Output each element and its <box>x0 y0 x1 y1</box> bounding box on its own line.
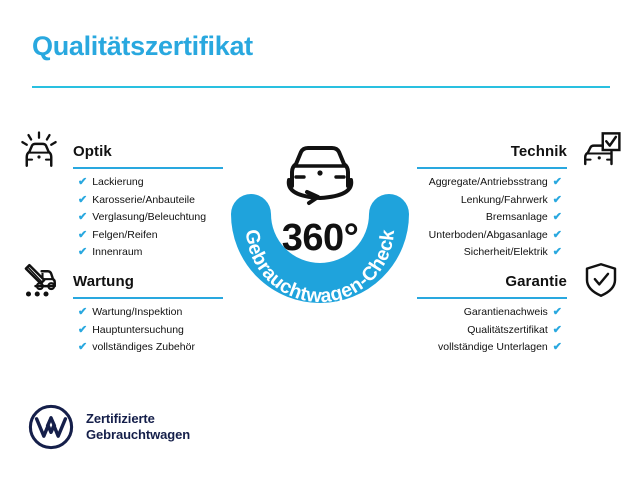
section-wartung-divider <box>73 297 223 299</box>
section-optik-list: ✔ Lackierung ✔ Karosserie/Anbauteile ✔ V… <box>18 174 223 262</box>
sparkling-car-icon <box>18 130 60 170</box>
header: Qualitätszertifikat <box>32 32 608 62</box>
list-item-label: Lenkung/Fahrwerk <box>461 192 548 210</box>
section-wartung-header: Wartung <box>18 258 223 304</box>
list-item: Aggregate/Antriebsstrang ✔ <box>417 174 622 192</box>
vw-logo-icon <box>28 404 74 450</box>
check-icon: ✔ <box>78 342 87 353</box>
list-item-label: Bremsanlage <box>486 209 548 227</box>
check-icon: ✔ <box>78 247 87 258</box>
360-check-badge: Gebrauchtwagen-Check 360° <box>218 118 422 322</box>
section-garantie-title: Garantie <box>505 273 567 290</box>
section-technik-list: Aggregate/Antriebsstrang ✔ Lenkung/Fahrw… <box>417 174 622 262</box>
section-optik-header: Optik <box>18 128 223 174</box>
check-icon: ✔ <box>553 177 562 188</box>
check-icon: ✔ <box>78 177 87 188</box>
section-technik-divider <box>417 167 567 169</box>
check-icon: ✔ <box>553 307 562 318</box>
list-item-label: vollständiges Zubehör <box>92 339 195 357</box>
list-item: ✔ Felgen/Reifen <box>18 227 223 245</box>
vw-logo-line1: Zertifizierte <box>86 411 190 427</box>
car-checkbox-icon <box>580 130 622 170</box>
list-item-label: Felgen/Reifen <box>92 227 157 245</box>
list-item: ✔ Verglasung/Beleuchtung <box>18 209 223 227</box>
list-item: vollständige Unterlagen ✔ <box>417 339 622 357</box>
vw-certified-logo: Zertifizierte Gebrauchtwagen <box>28 404 190 450</box>
check-icon: ✔ <box>78 195 87 206</box>
check-icon: ✔ <box>553 247 562 258</box>
section-optik-divider <box>73 167 223 169</box>
list-item-label: Wartung/Inspektion <box>92 304 182 322</box>
list-item-label: Karosserie/Anbauteile <box>92 192 195 210</box>
list-item: ✔ Hauptuntersuchung <box>18 322 223 340</box>
list-item-label: Aggregate/Antriebsstrang <box>429 174 548 192</box>
section-technik: Technik Aggregate/Antriebsstrang ✔ Lenku… <box>417 128 622 262</box>
check-icon: ✔ <box>78 230 87 241</box>
list-item: ✔ Wartung/Inspektion <box>18 304 223 322</box>
list-item-label: Hauptuntersuchung <box>92 322 184 340</box>
vw-logo-text: Zertifizierte Gebrauchtwagen <box>86 411 190 443</box>
shield-check-icon <box>580 260 622 300</box>
section-optik: Optik ✔ Lackierung ✔ Karosserie/Anbautei… <box>18 128 223 262</box>
vw-logo-line2: Gebrauchtwagen <box>86 427 190 443</box>
check-icon: ✔ <box>78 307 87 318</box>
car-rotate-icon <box>289 148 351 203</box>
list-item-label: Verglasung/Beleuchtung <box>92 209 206 227</box>
section-garantie-header: Garantie <box>417 258 622 304</box>
car-service-tools-icon <box>18 260 60 300</box>
check-icon: ✔ <box>553 230 562 241</box>
list-item: Bremsanlage ✔ <box>417 209 622 227</box>
list-item: Lenkung/Fahrwerk ✔ <box>417 192 622 210</box>
qualitaetszertifikat-infographic: Qualitätszertifikat <box>0 0 640 480</box>
badge-center-label: 360° <box>282 217 359 259</box>
check-icon: ✔ <box>78 212 87 223</box>
check-icon: ✔ <box>78 325 87 336</box>
list-item: Unterboden/Abgasanlage ✔ <box>417 227 622 245</box>
check-icon: ✔ <box>553 325 562 336</box>
section-technik-header: Technik <box>417 128 622 174</box>
check-icon: ✔ <box>553 195 562 206</box>
section-wartung-title: Wartung <box>73 273 134 290</box>
list-item: ✔ vollständiges Zubehör <box>18 339 223 357</box>
section-wartung-list: ✔ Wartung/Inspektion ✔ Hauptuntersuchung… <box>18 304 223 357</box>
section-garantie: Garantie Garantienachweis ✔ Qualitätszer… <box>417 258 622 357</box>
section-wartung: Wartung ✔ Wartung/Inspektion ✔ Hauptunte… <box>18 258 223 357</box>
section-garantie-list: Garantienachweis ✔ Qualitätszertifikat ✔… <box>417 304 622 357</box>
page-title: Qualitätszertifikat <box>32 32 608 62</box>
list-item: Garantienachweis ✔ <box>417 304 622 322</box>
list-item: ✔ Karosserie/Anbauteile <box>18 192 223 210</box>
list-item: ✔ Lackierung <box>18 174 223 192</box>
list-item: Qualitätszertifikat ✔ <box>417 322 622 340</box>
section-garantie-divider <box>417 297 567 299</box>
list-item-label: Garantienachweis <box>464 304 548 322</box>
section-optik-title: Optik <box>73 143 112 160</box>
list-item-label: Lackierung <box>92 174 143 192</box>
list-item-label: vollständige Unterlagen <box>438 339 548 357</box>
header-divider <box>32 86 610 88</box>
section-technik-title: Technik <box>511 143 567 160</box>
list-item-label: Qualitätszertifikat <box>467 322 548 340</box>
check-icon: ✔ <box>553 212 562 223</box>
check-icon: ✔ <box>553 342 562 353</box>
list-item-label: Unterboden/Abgasanlage <box>429 227 548 245</box>
